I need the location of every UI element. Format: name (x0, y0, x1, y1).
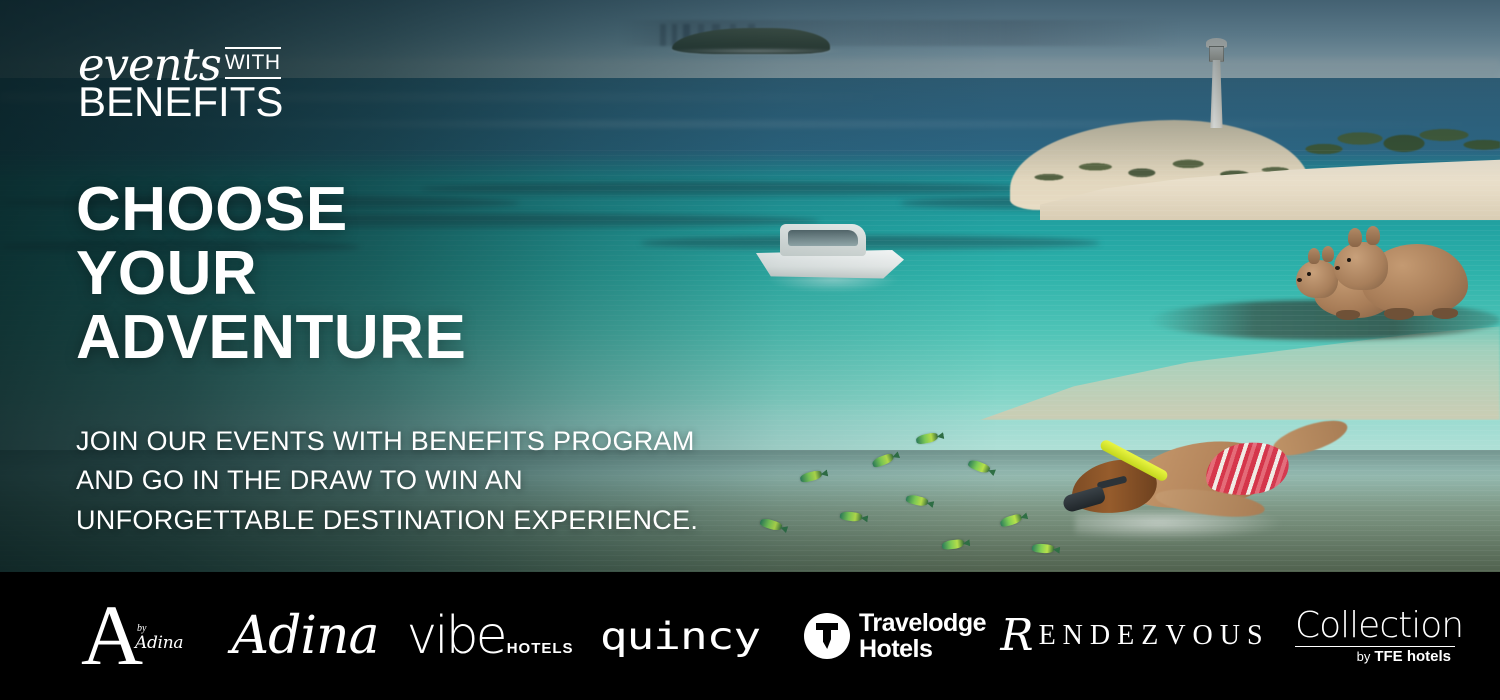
quincy-wordmark: quincy (600, 617, 760, 655)
collection-sub: by TFE hotels (1295, 648, 1455, 665)
brand-logo-bar: A by Adina Adina vibe HOTELS quincy Trav… (0, 572, 1500, 700)
headline-line-3: ADVENTURE (76, 306, 696, 370)
rendezvous-initial: R (1000, 614, 1033, 658)
lighthouse-icon (1196, 32, 1236, 128)
logo-rendezvous[interactable]: R ENDEZVOUS (1000, 572, 1270, 700)
headline-line-1: CHOOSE (76, 178, 696, 242)
quokka-ear (1366, 226, 1380, 245)
travelodge-line-2: Hotels (859, 635, 932, 663)
logo-collection-by-tfe-hotels[interactable]: Collection by TFE hotels (1280, 572, 1470, 700)
lighthouse-lamp (1209, 46, 1224, 62)
vibe-wordmark: vibe (406, 610, 504, 662)
subcopy-line-2: AND GO IN THE DRAW TO WIN AN (76, 461, 866, 500)
quokka-eye (1347, 258, 1351, 262)
collection-wordmark: Collection (1295, 608, 1455, 644)
travelodge-t-icon (804, 613, 850, 659)
collection-rule (1295, 646, 1455, 647)
lighthouse-tower (1208, 60, 1225, 128)
travelodge-line-1: Travelodge (859, 609, 986, 637)
rendezvous-wordmark: ENDEZVOUS (1039, 620, 1270, 652)
hero-content: events WITH BENEFITS CHOOSE YOUR ADVENTU… (0, 0, 1000, 572)
logo-a-by-adina[interactable]: A by Adina (60, 572, 210, 700)
quokka-eye (1307, 272, 1311, 276)
logo-with-word: WITH (225, 47, 281, 79)
vibe-mark: vibe HOTELS (406, 610, 573, 662)
headline-line-2: YOUR (76, 242, 696, 306)
promo-banner: events WITH BENEFITS CHOOSE YOUR ADVENTU… (0, 0, 1500, 700)
page-title: CHOOSE YOUR ADVENTURE (76, 178, 696, 370)
a-by-adina-mark: A by Adina (75, 599, 195, 673)
quokka-icon (1332, 228, 1472, 328)
hero-subcopy: JOIN OUR EVENTS WITH BENEFITS PROGRAM AN… (76, 422, 866, 540)
logo-adina[interactable]: Adina (210, 572, 400, 700)
subcopy-line-1: JOIN OUR EVENTS WITH BENEFITS PROGRAM (76, 422, 866, 461)
vibe-hotels-label: HOTELS (507, 640, 574, 657)
events-with-benefits-logo: events WITH BENEFITS (78, 44, 308, 123)
collection-tfe: TFE hotels (1374, 648, 1451, 665)
quokka-head (1334, 242, 1388, 290)
quokka-ear (1348, 228, 1362, 247)
subcopy-line-3: UNFORGETTABLE DESTINATION EXPERIENCE. (76, 501, 866, 540)
a-by-adina-letter: A (81, 599, 141, 673)
snorkeler-icon (1035, 415, 1335, 555)
rendezvous-mark: R ENDEZVOUS (1000, 614, 1269, 658)
travelodge-mark: Travelodge Hotels (804, 610, 986, 662)
quokka-ear (1308, 248, 1320, 264)
logo-vibe-hotels[interactable]: vibe HOTELS (400, 572, 580, 700)
quokka-foot (1432, 308, 1458, 319)
logo-benefits-word: BENEFITS (78, 81, 308, 123)
quokka-foot (1384, 308, 1414, 320)
adina-wordmark: Adina (232, 606, 379, 666)
collection-by: by (1357, 649, 1371, 664)
collection-mark: Collection by TFE hotels (1295, 608, 1455, 665)
quokka-nose (1297, 278, 1302, 282)
a-by-adina-name: Adina (135, 633, 183, 653)
logo-travelodge-hotels[interactable]: Travelodge Hotels (790, 572, 1000, 700)
quokka-nose (1335, 266, 1340, 270)
travelodge-wordmark: Travelodge Hotels (859, 610, 986, 662)
logo-quincy[interactable]: quincy (580, 572, 780, 700)
